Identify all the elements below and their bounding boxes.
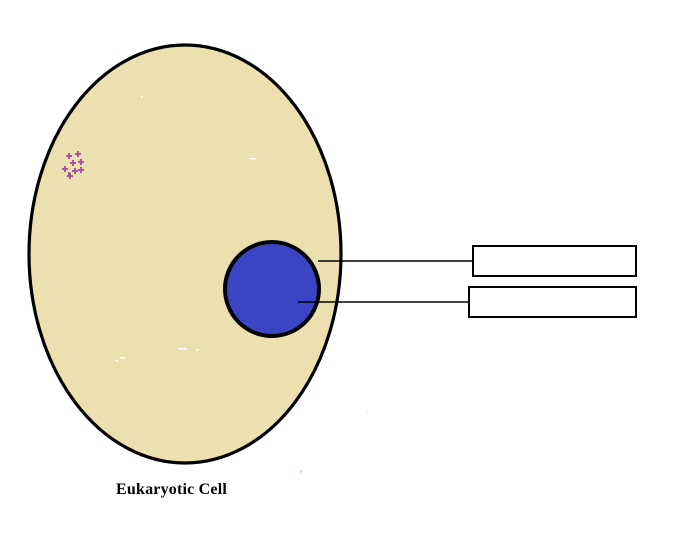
diagram-caption: Eukaryotic Cell [116, 481, 316, 499]
label-box-2[interactable] [468, 286, 637, 318]
nucleus-circle [225, 242, 319, 336]
diagram-canvas: Eukaryotic Cell [0, 0, 686, 533]
label-box-1[interactable] [472, 245, 637, 277]
